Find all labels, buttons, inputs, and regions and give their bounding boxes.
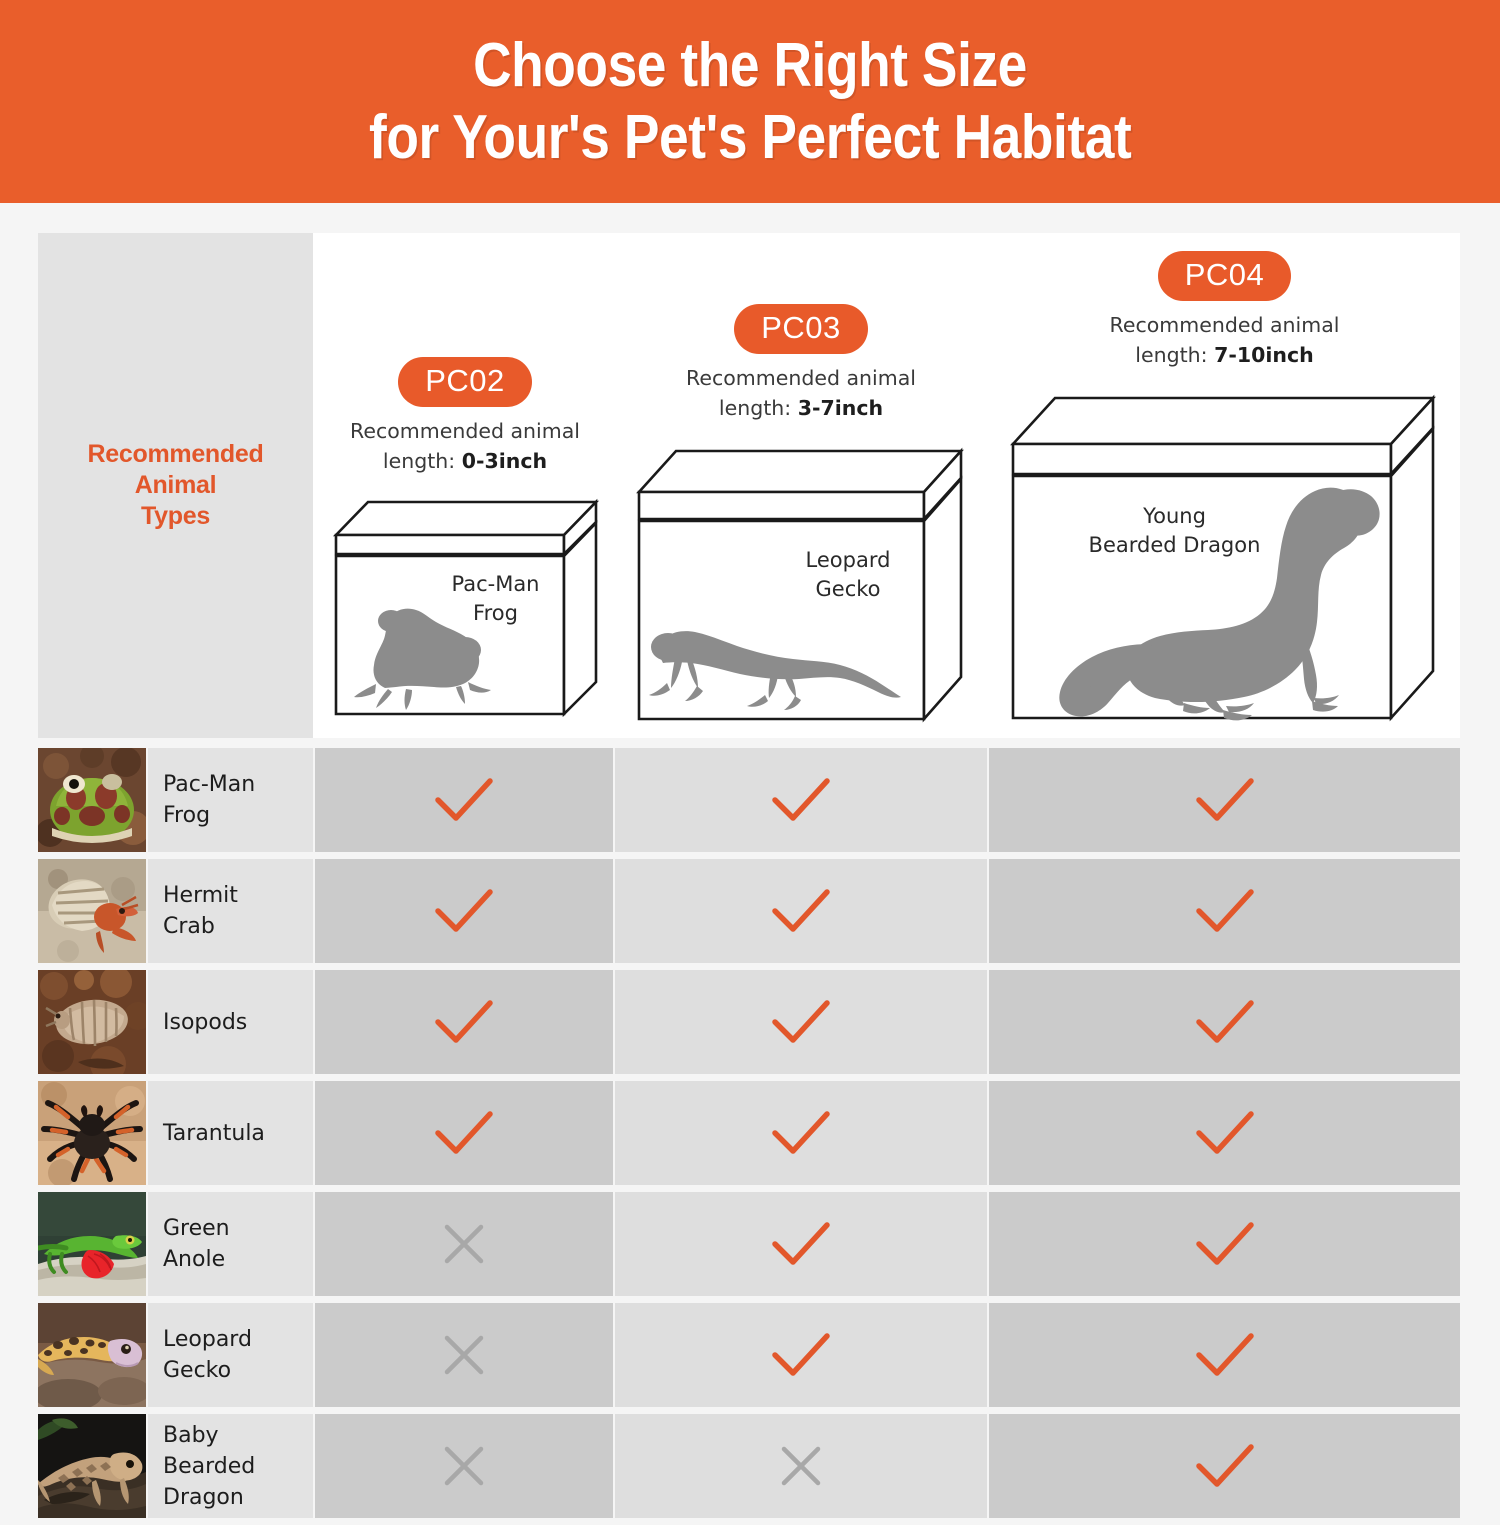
pc03-rec-label: length: bbox=[719, 396, 791, 420]
check-icon bbox=[770, 887, 832, 935]
cell-pc02[interactable] bbox=[315, 1192, 613, 1296]
table-row: Leopard Gecko bbox=[38, 1303, 1460, 1407]
table-row: Pac-Man Frog bbox=[38, 748, 1460, 852]
check-icon bbox=[770, 998, 832, 1046]
pc02-rec-label: length: bbox=[383, 449, 455, 473]
row-name-line-2: Crab bbox=[163, 911, 238, 942]
check-icon bbox=[1194, 1109, 1256, 1157]
pacman-frog-photo bbox=[38, 748, 146, 852]
pc02-tank-illustration: Pac-Man Frog bbox=[328, 492, 603, 722]
recommended-animal-types-label: Recommended Animal Types bbox=[88, 439, 264, 532]
check-icon bbox=[770, 1220, 832, 1268]
row-name-line-1: Isopods bbox=[163, 1007, 247, 1038]
check-icon bbox=[433, 1109, 495, 1157]
table-row: Tarantula bbox=[38, 1081, 1460, 1185]
check-icon bbox=[433, 887, 495, 935]
pc02-tank-label-line-1: Pac-Man bbox=[436, 570, 556, 599]
row-name-line-1: Pac-Man bbox=[163, 769, 255, 800]
cell-pc04[interactable] bbox=[989, 1081, 1460, 1185]
cell-pc04[interactable] bbox=[989, 748, 1460, 852]
cell-pc03[interactable] bbox=[615, 970, 987, 1074]
recommended-animal-types-header: Recommended Animal Types bbox=[38, 233, 313, 738]
header-label-line-1: Recommended bbox=[88, 439, 264, 470]
pc04-recommendation: Recommended animal length: 7-10inch bbox=[989, 310, 1460, 370]
check-icon bbox=[1194, 1220, 1256, 1268]
pc02-rec-value: 0-3inch bbox=[462, 449, 547, 473]
cell-pc04[interactable] bbox=[989, 859, 1460, 963]
cell-pc02[interactable] bbox=[315, 1414, 613, 1518]
row-name-cell: Baby Bearded Dragon bbox=[148, 1414, 313, 1518]
cell-pc02[interactable] bbox=[315, 970, 613, 1074]
row-name-cell: Green Anole bbox=[148, 1192, 313, 1296]
hermit-crab-photo bbox=[38, 859, 146, 963]
check-icon bbox=[770, 1331, 832, 1379]
cell-pc03[interactable] bbox=[615, 1081, 987, 1185]
cell-pc02[interactable] bbox=[315, 859, 613, 963]
pc02-tank-label-line-2: Frog bbox=[436, 599, 556, 628]
check-icon bbox=[433, 998, 495, 1046]
cell-pc04[interactable] bbox=[989, 1192, 1460, 1296]
cell-pc04[interactable] bbox=[989, 1414, 1460, 1518]
row-name-line-1: Baby Bearded bbox=[163, 1420, 313, 1482]
pc03-badge-wrap: PC03 bbox=[615, 304, 987, 354]
row-name-cell: Hermit Crab bbox=[148, 859, 313, 963]
size-column-pc02: PC02 Recommended animal length: 0-3inch bbox=[316, 233, 614, 722]
check-icon bbox=[770, 1109, 832, 1157]
pc03-tank-label: Leopard Gecko bbox=[783, 546, 913, 604]
cell-pc03[interactable] bbox=[615, 859, 987, 963]
pc04-badge[interactable]: PC04 bbox=[1158, 251, 1292, 301]
illustration-band: Recommended Animal Types PC02 Recommende… bbox=[38, 233, 1460, 738]
cell-pc02[interactable] bbox=[315, 748, 613, 852]
pc04-tank-label: Young Bearded Dragon bbox=[1070, 502, 1280, 560]
cell-pc03[interactable] bbox=[615, 1192, 987, 1296]
cell-pc04[interactable] bbox=[989, 1303, 1460, 1407]
pc03-recommendation: Recommended animal length: 3-7inch bbox=[615, 363, 987, 423]
compatibility-table: Pac-Man Frog bbox=[38, 748, 1460, 1525]
pc04-rec-prefix: Recommended animal bbox=[1110, 313, 1340, 337]
row-name-line-1: Tarantula bbox=[163, 1118, 265, 1149]
row-name-text: Isopods bbox=[148, 1007, 247, 1038]
table-row: Hermit Crab bbox=[38, 859, 1460, 963]
cell-pc03[interactable] bbox=[615, 1303, 987, 1407]
cell-pc03[interactable] bbox=[615, 748, 987, 852]
row-name-text: Baby Bearded Dragon bbox=[148, 1420, 313, 1513]
cross-icon bbox=[440, 1442, 488, 1490]
table-row: Baby Bearded Dragon bbox=[38, 1414, 1460, 1518]
cell-pc04[interactable] bbox=[989, 970, 1460, 1074]
pc04-tank-label-line-2: Bearded Dragon bbox=[1070, 531, 1280, 560]
check-icon bbox=[1194, 776, 1256, 824]
row-name-line-2: Frog bbox=[163, 800, 255, 831]
green-anole-photo bbox=[38, 1192, 146, 1296]
header-label-line-3: Types bbox=[88, 501, 264, 532]
pc03-tank-illustration: Leopard Gecko bbox=[631, 439, 971, 727]
pc02-rec-prefix: Recommended animal bbox=[350, 419, 580, 443]
pc04-rec-value: 7-10inch bbox=[1214, 343, 1314, 367]
pc03-rec-value: 3-7inch bbox=[798, 396, 883, 420]
row-name-cell: Tarantula bbox=[148, 1081, 313, 1185]
check-icon bbox=[770, 776, 832, 824]
row-name-cell: Pac-Man Frog bbox=[148, 748, 313, 852]
cross-icon bbox=[440, 1331, 488, 1379]
pc02-tank-label: Pac-Man Frog bbox=[436, 570, 556, 628]
table-row: Green Anole bbox=[38, 1192, 1460, 1296]
pc03-tank-label-line-1: Leopard bbox=[783, 546, 913, 575]
size-column-pc04: PC04 Recommended animal length: 7-10inch bbox=[989, 233, 1460, 726]
row-name-cell: Leopard Gecko bbox=[148, 1303, 313, 1407]
pc04-tank-label-line-1: Young bbox=[1070, 502, 1280, 531]
row-name-text: Leopard Gecko bbox=[148, 1324, 252, 1386]
leopard-gecko-photo bbox=[38, 1303, 146, 1407]
check-icon bbox=[1194, 887, 1256, 935]
page-title-line-2: for Your's Pet's Perfect Habitat bbox=[369, 102, 1131, 174]
row-name-line-2: Dragon bbox=[163, 1482, 313, 1513]
size-column-pc03: PC03 Recommended animal length: 3-7inch bbox=[615, 233, 987, 727]
pc03-rec-prefix: Recommended animal bbox=[686, 366, 916, 390]
check-icon bbox=[433, 776, 495, 824]
pc02-recommendation: Recommended animal length: 0-3inch bbox=[316, 416, 614, 476]
header-label-line-2: Animal bbox=[88, 470, 264, 501]
row-name-text: Tarantula bbox=[148, 1118, 265, 1149]
cell-pc02[interactable] bbox=[315, 1081, 613, 1185]
cell-pc02[interactable] bbox=[315, 1303, 613, 1407]
baby-bearded-dragon-photo bbox=[38, 1414, 146, 1518]
row-name-text: Pac-Man Frog bbox=[148, 769, 255, 831]
cross-icon bbox=[777, 1442, 825, 1490]
check-icon bbox=[1194, 1442, 1256, 1490]
pc04-rec-label: length: bbox=[1135, 343, 1207, 367]
row-name-line-1: Leopard bbox=[163, 1324, 252, 1355]
pc04-tank-illustration: Young Bearded Dragon bbox=[1005, 386, 1445, 726]
row-name-line-1: Green bbox=[163, 1213, 230, 1244]
page-title-line-1: Choose the Right Size bbox=[473, 30, 1027, 102]
check-icon bbox=[1194, 1331, 1256, 1379]
pc02-badge[interactable]: PC02 bbox=[398, 357, 532, 407]
pc03-badge[interactable]: PC03 bbox=[734, 304, 868, 354]
cell-pc03[interactable] bbox=[615, 1414, 987, 1518]
isopod-photo bbox=[38, 970, 146, 1074]
cross-icon bbox=[440, 1220, 488, 1268]
row-name-text: Hermit Crab bbox=[148, 880, 238, 942]
row-name-line-1: Hermit bbox=[163, 880, 238, 911]
pc03-tank-label-line-2: Gecko bbox=[783, 575, 913, 604]
row-name-cell: Isopods bbox=[148, 970, 313, 1074]
row-name-text: Green Anole bbox=[148, 1213, 230, 1275]
pc02-badge-wrap: PC02 bbox=[316, 357, 614, 407]
row-name-line-2: Anole bbox=[163, 1244, 230, 1275]
tarantula-photo bbox=[38, 1081, 146, 1185]
page-header-banner: Choose the Right Size for Your's Pet's P… bbox=[0, 0, 1500, 203]
table-row: Isopods bbox=[38, 970, 1460, 1074]
pc04-badge-wrap: PC04 bbox=[989, 251, 1460, 301]
row-name-line-2: Gecko bbox=[163, 1355, 252, 1386]
check-icon bbox=[1194, 998, 1256, 1046]
